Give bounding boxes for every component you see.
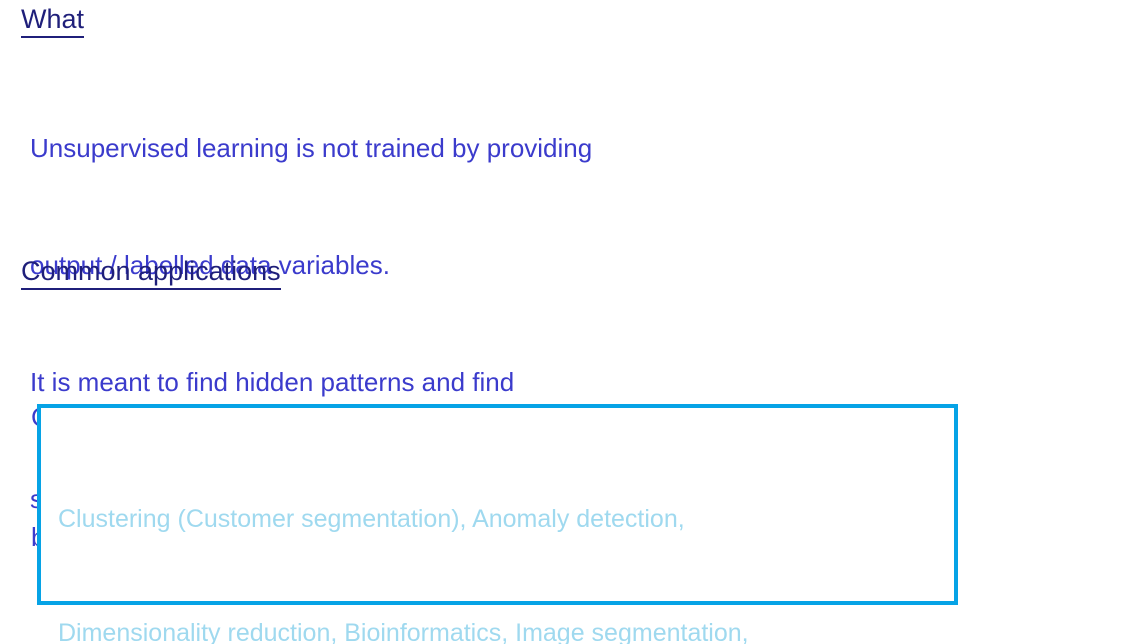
section-heading-what: What [21,5,84,38]
examples-callout-box: Clustering (Customer segmentation), Anom… [37,404,958,605]
example-line-1: Clustering (Customer segmentation), Anom… [58,500,749,538]
section-heading-common-applications: Common applications [21,257,281,290]
example-line-2: Dimensionality reduction, Bioinformatics… [58,614,749,644]
examples-list-text: Clustering (Customer segmentation), Anom… [58,424,749,644]
what-line-1: Unsupervised learning is not trained by … [30,129,592,168]
slide-canvas: What Unsupervised learning is not traine… [0,0,1132,644]
